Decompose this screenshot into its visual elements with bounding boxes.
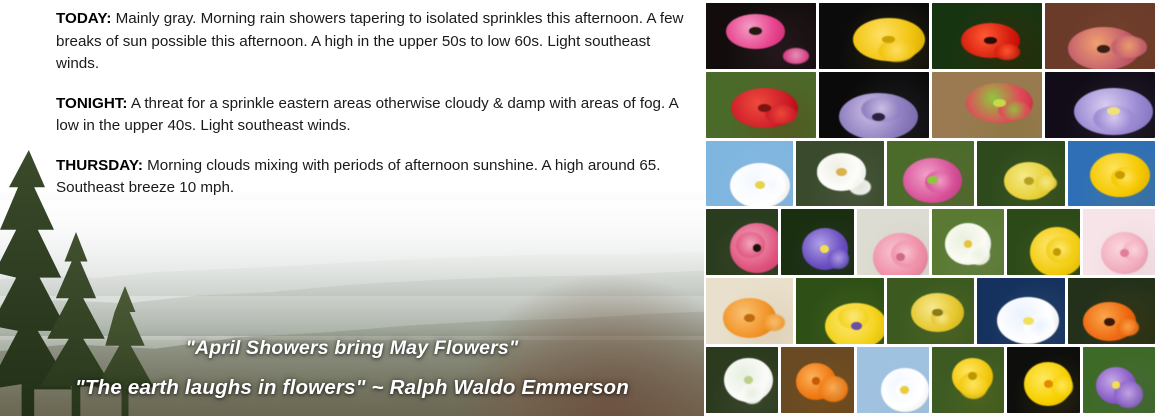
flower-center: [851, 322, 861, 330]
secondary-bloom: [968, 245, 990, 265]
forecast-thursday: THURSDAY: Morning clouds mixing with per…: [0, 155, 704, 200]
forecast-text-block: TODAY: Mainly gray. Morning rain showers…: [0, 0, 704, 217]
collage-photo-yellow-daffodil: [1007, 347, 1079, 413]
flower-center: [1104, 318, 1114, 326]
flower-center: [1023, 317, 1033, 325]
collage-photo-purple-crocus-dark: [819, 72, 929, 138]
collage-photo-yellow-violas: [796, 278, 883, 344]
collage-photo-red-tulips-field: [706, 72, 816, 138]
collage-photo-yellow-tulip-blue-sky: [1068, 141, 1155, 207]
secondary-bloom: [994, 44, 1020, 60]
flower-center: [1097, 45, 1110, 53]
secondary-bloom: [849, 179, 871, 195]
collage-photo-orange-poppy-closeup: [1068, 278, 1155, 344]
collage-photo-yellow-dandelion: [932, 347, 1004, 413]
secondary-bloom: [1111, 36, 1147, 58]
secondary-bloom: [783, 48, 809, 64]
secondary-bloom: [878, 40, 914, 62]
collage-photo-pink-tulips-pair: [857, 209, 929, 275]
flower-center: [1120, 249, 1129, 257]
forecast-today: TODAY: Mainly gray. Morning rain showers…: [0, 8, 704, 76]
flower-center: [900, 386, 909, 394]
collage-photo-white-poppies-mountain: [857, 347, 929, 413]
collage-photo-pink-anemone-flower: [706, 3, 816, 69]
collage-photo-orange-tulips-cluster: [781, 347, 853, 413]
collage-photo-pink-wildflower-meadow: [887, 141, 974, 207]
flower-center: [744, 376, 753, 384]
collage-photo-yellow-bud-green: [977, 141, 1064, 207]
secondary-bloom: [1051, 376, 1073, 396]
flower-center: [836, 168, 846, 176]
collage-row: [706, 278, 1155, 344]
collage-photo-snowdrop-flowers: [706, 347, 778, 413]
flower-center: [1115, 171, 1125, 179]
collage-photo-blue-purple-flowers: [781, 209, 853, 275]
forecast-today-label: TODAY: [56, 10, 106, 27]
flower-center: [753, 244, 762, 252]
collage-photo-tall-yellow-wildflowers: [887, 278, 974, 344]
flower-center: [896, 253, 905, 261]
secondary-bloom: [1035, 175, 1057, 191]
collage-row: [706, 3, 1155, 69]
flower-center: [820, 245, 829, 253]
collage-photo-white-daisies-meadow: [932, 209, 1004, 275]
forecast-tonight-text: A threat for a sprinkle eastern areas ot…: [56, 95, 678, 135]
collage-photo-orange-poppy-bud: [706, 278, 793, 344]
collage-photo-purple-crocus-cluster: [1045, 72, 1155, 138]
flower-center: [1044, 380, 1053, 388]
flower-center: [968, 372, 977, 380]
flower-center: [872, 113, 885, 121]
secondary-bloom: [828, 249, 850, 269]
forecast-thursday-label: THURSDAY: [56, 157, 138, 174]
flower-center: [932, 309, 942, 317]
collage-photo-white-flower-blue-background: [977, 278, 1064, 344]
weather-forecast-graphic: TODAY: Mainly gray. Morning rain showers…: [0, 0, 1158, 416]
secondary-bloom: [762, 314, 785, 331]
collage-photo-white-blossom-blue-sky: [706, 141, 793, 207]
collage-photo-flower-pot-bouquet: [932, 72, 1042, 138]
collage-row: [706, 141, 1155, 207]
quote-line-2: "The earth laughs in flowers" ~ Ralph Wa…: [0, 376, 704, 400]
collage-photo-cherry-blossom-branch-sunset: [1045, 3, 1155, 69]
flower-center: [964, 240, 973, 248]
collage-photo-purple-crocus-field: [1083, 347, 1155, 413]
flower-center: [927, 176, 937, 184]
collage-photo-red-poppy: [932, 3, 1042, 69]
collage-row: [706, 347, 1155, 413]
collage-photo-pink-anemone-closeup: [706, 209, 778, 275]
forecast-panel: TODAY: Mainly gray. Morning rain showers…: [0, 0, 704, 416]
flower-photo-collage: [706, 0, 1158, 416]
collage-photo-pink-cherry-blossom-soft: [1083, 209, 1155, 275]
collage-row: [706, 72, 1155, 138]
forecast-tonight: TONIGHT: A threat for a sprinkle eastern…: [0, 93, 704, 138]
forecast-thursday-text: Morning clouds mixing with periods of af…: [56, 157, 660, 197]
secondary-bloom: [891, 241, 919, 267]
collage-photo-yellow-buttercups: [1007, 209, 1079, 275]
quote-overlay: "April Showers bring May Flowers" "The e…: [0, 337, 704, 400]
flower-center: [744, 314, 754, 322]
flower-center: [1053, 248, 1062, 256]
quote-line-1: "April Showers bring May Flowers": [0, 337, 704, 360]
collage-row: [706, 209, 1155, 275]
collage-photo-yellow-tulips: [819, 3, 929, 69]
forecast-today-text: Mainly gray. Morning rain showers taperi…: [56, 10, 684, 72]
collage-photo-white-apple-blossoms: [796, 141, 883, 207]
forecast-tonight-label: TONIGHT:: [56, 95, 127, 112]
